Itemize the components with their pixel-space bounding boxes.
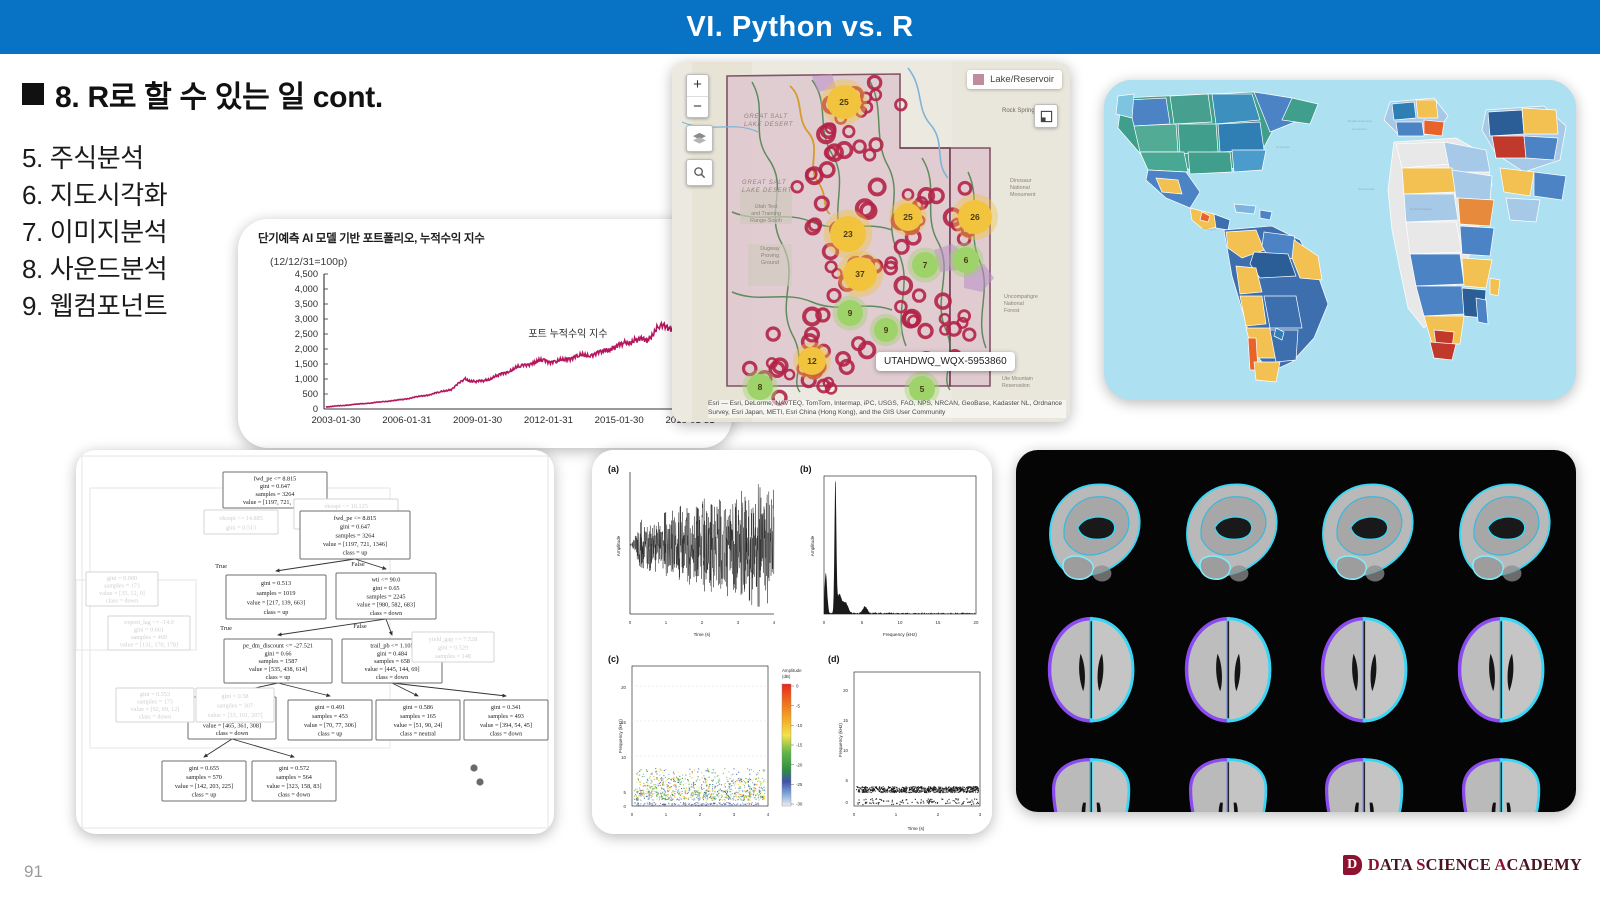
map-cluster-marker[interactable]: 9: [874, 318, 898, 342]
brain-mri-card: [1016, 450, 1576, 812]
list-item: 9. 웹컴포넌트: [22, 288, 167, 325]
svg-text:Amplitude: Amplitude: [810, 535, 815, 556]
logo-cience: CIENCE: [1426, 855, 1495, 874]
svg-text:gini = 0.66: gini = 0.66: [264, 650, 291, 657]
brand-logo: D DATA SCIENCE ACADEMY: [1343, 855, 1582, 875]
svg-text:samples = 173: samples = 173: [137, 698, 173, 705]
logo-text: DATA SCIENCE ACADEMY: [1368, 855, 1582, 875]
svg-text:gini = 0.529: gini = 0.529: [438, 644, 468, 651]
svg-text:2006-01-31: 2006-01-31: [382, 415, 431, 426]
svg-text:500: 500: [302, 389, 318, 399]
svg-text:gini = 0.000: gini = 0.000: [107, 575, 137, 582]
svg-text:(a): (a): [608, 464, 619, 474]
svg-text:gini = 0.586: gini = 0.586: [403, 704, 433, 711]
svg-text:value = [33, 101, 207]: value = [33, 101, 207]: [207, 712, 262, 719]
svg-text:value = [92, 69, 12]: value = [92, 69, 12]: [131, 706, 180, 713]
svg-text:2012-01-31: 2012-01-31: [524, 415, 573, 426]
square-bullet-icon: [22, 83, 44, 105]
svg-text:포트 누적수익 지수: 포트 누적수익 지수: [528, 328, 607, 340]
svg-text:True: True: [220, 625, 232, 632]
svg-text:value = [465, 361, 308]: value = [465, 361, 308]: [203, 723, 261, 730]
slide-heading-text: 8. R로 할 수 있는 일 cont.: [55, 72, 383, 116]
svg-text:class = down: class = down: [278, 792, 310, 799]
brain-slice-svg: [1434, 741, 1569, 812]
svg-text:1,500: 1,500: [295, 359, 318, 369]
svg-text:GREAT SALT: GREAT SALT: [742, 180, 787, 186]
logo-cademy: CADEMY: [1507, 855, 1582, 874]
svg-text:3,500: 3,500: [295, 299, 318, 309]
svg-text:value = [394, 54, 45]: value = [394, 54, 45]: [480, 722, 532, 729]
svg-text:class = down: class = down: [216, 730, 248, 737]
svg-text:samples = 564: samples = 564: [276, 774, 312, 781]
layers-button[interactable]: [686, 125, 713, 152]
svg-text:export_lag <= -14.0: export_lag <= -14.0: [124, 619, 173, 626]
logo-a: A: [1494, 855, 1506, 874]
decision-tree-card: fwd_pe <= 8.815gini = 0.647samples = 326…: [76, 450, 554, 834]
page-number: 91: [24, 862, 43, 882]
map-controls[interactable]: + −: [686, 74, 713, 186]
svg-text:class = down: class = down: [376, 674, 408, 681]
svg-text:15: 15: [936, 620, 941, 625]
brain-slice-sagittal: [1161, 458, 1296, 598]
svg-text:class = down: class = down: [370, 610, 402, 617]
tree-node: vkospi <= 14.885gini = 0.513: [204, 510, 278, 534]
list-item: 5. 주식분석: [22, 140, 167, 177]
svg-text:gini = 0.513: gini = 0.513: [261, 580, 291, 587]
map-cluster-marker[interactable]: 6: [953, 247, 979, 273]
svg-text:-15: -15: [796, 743, 803, 748]
svg-text:gini = 0.572: gini = 0.572: [279, 765, 309, 772]
brain-slice-svg: [1161, 600, 1296, 740]
search-button[interactable]: [686, 159, 713, 186]
svg-text:samples = 148: samples = 148: [435, 653, 471, 660]
svg-text:4,500: 4,500: [295, 269, 318, 279]
svg-text:gini = 0.341: gini = 0.341: [491, 704, 521, 711]
map-canvas[interactable]: GREAT SALT LAKE DESERT GREAT SALT LAKE D…: [672, 62, 1070, 422]
svg-text:samples = 1019: samples = 1019: [257, 590, 296, 597]
svg-text:class = down: class = down: [139, 713, 171, 720]
svg-text:-25: -25: [796, 782, 803, 787]
brain-slice-coronal: [1024, 741, 1159, 812]
svg-text:20: 20: [843, 688, 848, 693]
brain-slice-coronal: [1434, 741, 1569, 812]
svg-text:Galapagos: Galapagos: [1202, 227, 1217, 231]
logo-s: S: [1416, 855, 1425, 874]
list-item: 6. 지도시각화: [22, 177, 167, 214]
brain-slice-svg: [1297, 458, 1432, 598]
svg-text:Frequency (kHz): Frequency (kHz): [838, 723, 843, 757]
brain-slice-svg: [1161, 458, 1296, 598]
map-cluster-marker[interactable]: 37: [843, 257, 877, 291]
svg-text:Reservation: Reservation: [1002, 383, 1030, 389]
svg-text:St George: St George: [1276, 145, 1290, 149]
svg-text:Utah Test: Utah Test: [755, 204, 778, 210]
svg-text:Range-South: Range-South: [750, 218, 782, 224]
map-cluster-marker[interactable]: 25: [894, 203, 922, 231]
feature-tooltip: UTAHDWQ_WQX-5953860: [876, 352, 1015, 371]
logo-mark-icon: D: [1343, 855, 1362, 875]
svg-text:value = [217, 139, 663]: value = [217, 139, 663]: [247, 599, 305, 606]
tree-node: gini = 0.58samples = 307value = [33, 101…: [196, 688, 274, 722]
svg-text:samples = 307: samples = 307: [217, 703, 253, 710]
list-item: 8. 사운드분석: [22, 251, 167, 288]
svg-text:10: 10: [621, 755, 626, 760]
svg-text:samples = 1587: samples = 1587: [259, 658, 298, 665]
list-item: 7. 이미지분석: [22, 214, 167, 251]
svg-text:(c): (c): [608, 654, 619, 664]
svg-text:-5: -5: [796, 703, 800, 708]
svg-text:gini = 0.655: gini = 0.655: [189, 765, 219, 772]
svg-text:samples = 453: samples = 453: [312, 713, 348, 720]
map-cluster-marker[interactable]: 26: [958, 200, 992, 234]
svg-text:2003-01-30: 2003-01-30: [311, 415, 360, 426]
map-cluster-marker[interactable]: 7: [912, 252, 938, 278]
svg-text:-20: -20: [796, 762, 803, 767]
brain-slice-svg: [1434, 458, 1569, 598]
svg-text:value = [142, 203, 225]: value = [142, 203, 225]: [175, 783, 233, 790]
svg-text:20: 20: [621, 685, 626, 690]
svg-text:gini = 0.513: gini = 0.513: [226, 524, 256, 531]
svg-text:value = [51, 90, 24]: value = [51, 90, 24]: [394, 722, 443, 729]
svg-text:samples = 165: samples = 165: [400, 713, 436, 720]
svg-text:National: National: [1004, 301, 1024, 307]
svg-text:samples = 173: samples = 173: [104, 582, 140, 589]
svg-text:gini = 0.553: gini = 0.553: [140, 691, 170, 698]
zoom-out-button[interactable]: −: [687, 96, 708, 117]
tree-node: gini = 0.513samples = 1019value = [217, …: [226, 575, 326, 619]
map-cluster-marker[interactable]: 25: [827, 85, 861, 119]
svg-text:10: 10: [843, 748, 848, 753]
brain-slice-svg: [1434, 600, 1569, 740]
tree-node: gini = 0.341samples = 493value = [394, 5…: [464, 700, 548, 740]
brain-slice-grid: [1024, 458, 1568, 804]
svg-text:LAKE DESERT: LAKE DESERT: [742, 188, 793, 194]
svg-text:1,000: 1,000: [295, 374, 318, 384]
svg-text:GREAT SALT: GREAT SALT: [744, 113, 788, 120]
svg-text:class = up: class = up: [192, 792, 217, 799]
svg-text:fwd_pe <= 8.815: fwd_pe <= 8.815: [334, 515, 377, 522]
brain-slice-sagittal: [1434, 458, 1569, 598]
svg-text:(d): (d): [828, 654, 840, 664]
svg-text:2,000: 2,000: [295, 344, 318, 354]
svg-text:20: 20: [974, 620, 979, 625]
svg-text:Amplitude: Amplitude: [616, 535, 621, 556]
svg-text:class = down: class = down: [106, 597, 138, 604]
svg-text:2015-01-30: 2015-01-30: [595, 415, 644, 426]
svg-text:LAKE DESERT: LAKE DESERT: [744, 121, 794, 128]
svg-text:class = up: class = up: [266, 674, 291, 681]
svg-text:True: True: [215, 563, 227, 570]
svg-text:samples = 469: samples = 469: [131, 634, 167, 641]
brain-slice-svg: [1297, 741, 1432, 812]
search-icon: [693, 166, 706, 179]
svg-text:and Training: and Training: [751, 211, 781, 217]
svg-text:Santa Antão: Santa Antão: [1358, 187, 1375, 191]
svg-text:value = [70, 77, 306]: value = [70, 77, 306]: [304, 722, 356, 729]
svg-text:4,000: 4,000: [295, 284, 318, 294]
header-bar: VI. Python vs. R: [0, 0, 1600, 54]
brain-slice-svg: [1161, 741, 1296, 812]
svg-text:10: 10: [898, 620, 903, 625]
svg-text:fwd_pe <= 8.815: fwd_pe <= 8.815: [254, 475, 297, 482]
water-quality-map-card[interactable]: GREAT SALT LAKE DESERT GREAT SALT LAKE D…: [672, 62, 1070, 422]
svg-text:class = neutral: class = neutral: [400, 731, 436, 738]
brain-slice-sagittal: [1024, 458, 1159, 598]
svg-text:value = [323, 158, 83]: value = [323, 158, 83]: [266, 783, 321, 790]
svg-text:value = [131, 170, 178]: value = [131, 170, 178]: [120, 641, 178, 648]
map-cluster-marker[interactable]: 9: [837, 300, 863, 326]
brain-slice-svg: [1024, 600, 1159, 740]
svg-text:-10: -10: [796, 723, 803, 728]
svg-text:3,000: 3,000: [295, 314, 318, 324]
svg-text:gini = 0.65: gini = 0.65: [372, 585, 399, 592]
brain-slice-coronal: [1297, 741, 1432, 812]
svg-text:gini = 0.491: gini = 0.491: [315, 704, 345, 711]
svg-text:Uncompahgre: Uncompahgre: [1004, 294, 1038, 300]
svg-text:Time (s): Time (s): [908, 826, 925, 831]
map-legend: Lake/Reservoir: [967, 70, 1062, 89]
svg-text:(dB): (dB): [782, 674, 791, 679]
svg-text:False: False: [351, 561, 365, 568]
svg-text:Rock Springs: Rock Springs: [1002, 108, 1038, 114]
svg-text:Região Autónoma: Região Autónoma: [1348, 119, 1372, 123]
tree-node: gini = 0.572samples = 564value = [323, 1…: [252, 761, 336, 801]
tree-node: yield_gap <= 7.528gini = 0.529samples = …: [412, 632, 494, 662]
svg-text:value = [445, 144, 69]: value = [445, 144, 69]: [364, 666, 419, 673]
svg-text:pe_dm_discount <= -27.521: pe_dm_discount <= -27.521: [243, 642, 313, 649]
brain-slice-coronal: [1161, 741, 1296, 812]
map-attribution: Esri — Esri, DeLorme, NAVTEQ, TomTom, In…: [708, 400, 1066, 418]
svg-text:gini = 0.661: gini = 0.661: [134, 626, 164, 633]
map-cluster-marker[interactable]: 8: [747, 374, 773, 400]
tree-node: export_lag <= -14.0gini = 0.661samples =…: [108, 616, 190, 650]
tree-node: gini = 0.655samples = 570value = [142, 2…: [162, 761, 246, 801]
svg-text:Ute Mountain: Ute Mountain: [1002, 376, 1033, 382]
bullet-list: 5. 주식분석 6. 지도시각화 7. 이미지분석 8. 사운드분석 9. 웹컴…: [22, 140, 167, 325]
svg-text:0: 0: [313, 404, 318, 414]
sound-analysis-card: (a) 0 1 2 3 4 Time (s) Amplitude (b) 0 5…: [592, 450, 992, 834]
tree-node: fwd_pe <= 8.815gini = 0.647samples = 326…: [300, 511, 410, 559]
brain-slice-axial: [1024, 600, 1159, 740]
svg-text:samples = 3264: samples = 3264: [256, 491, 295, 498]
brain-slice-svg: [1024, 741, 1159, 812]
layers-icon: [692, 132, 707, 145]
svg-text:class = up: class = up: [343, 550, 368, 557]
svg-text:value = [980, 582, 683]: value = [980, 582, 683]: [357, 602, 415, 609]
zoom-in-button[interactable]: +: [687, 75, 708, 96]
world-choropleth-map-card: Região Autónoma dos Açores St George San…: [1104, 80, 1576, 400]
sound-panels-svg: (a) 0 1 2 3 4 Time (s) Amplitude (b) 0 5…: [592, 450, 992, 834]
tree-node: wti <= 90.0gini = 0.65samples = 2245valu…: [336, 573, 436, 619]
svg-text:value = [35, 12, 0]: value = [35, 12, 0]: [99, 590, 145, 597]
svg-text:yield_gap <= 7.528: yield_gap <= 7.528: [429, 636, 477, 643]
decision-tree-svg: fwd_pe <= 8.815gini = 0.647samples = 326…: [76, 450, 554, 834]
line-chart-plot: 05001,0001,5002,0002,5003,0003,5004,0004…: [238, 219, 732, 448]
svg-text:2009-01-30: 2009-01-30: [453, 415, 502, 426]
default-extent-button[interactable]: [1034, 104, 1058, 128]
svg-text:wti <= 90.0: wti <= 90.0: [372, 577, 401, 584]
svg-text:False: False: [353, 623, 367, 630]
svg-text:samples = 3264: samples = 3264: [336, 532, 375, 539]
legend-label: Lake/Reservoir: [990, 74, 1054, 85]
svg-text:2,500: 2,500: [295, 329, 318, 339]
svg-text:dos Açores: dos Açores: [1352, 127, 1367, 131]
svg-text:Dinosaur: Dinosaur: [1010, 178, 1032, 184]
map-cluster-marker[interactable]: 23: [830, 216, 866, 252]
zoom-control[interactable]: + −: [686, 74, 709, 118]
map-cluster-marker[interactable]: 12: [798, 347, 826, 375]
tree-node: gini = 0.000samples = 173value = [35, 12…: [86, 572, 158, 606]
svg-text:Forest: Forest: [1004, 308, 1020, 314]
tree-node: gini = 0.553samples = 173value = [92, 69…: [116, 688, 194, 722]
logo-d: D: [1368, 855, 1380, 874]
brain-slice-svg: [1297, 600, 1432, 740]
brain-slice-axial: [1434, 600, 1569, 740]
svg-text:class = down: class = down: [490, 731, 522, 738]
svg-text:Frequency (kHz): Frequency (kHz): [883, 632, 917, 637]
world-map-svg: Região Autónoma dos Açores St George San…: [1104, 80, 1576, 400]
svg-text:samples = 2245: samples = 2245: [367, 593, 406, 600]
svg-text:-30: -30: [796, 802, 803, 807]
svg-text:samples = 658: samples = 658: [374, 658, 410, 665]
svg-text:samples = 493: samples = 493: [488, 713, 524, 720]
tree-node: gini = 0.586samples = 165value = [51, 90…: [376, 700, 460, 740]
svg-text:15: 15: [843, 718, 848, 723]
svg-text:Ground: Ground: [761, 260, 779, 266]
page-title: VI. Python vs. R: [686, 11, 913, 44]
svg-text:class = up: class = up: [264, 609, 289, 616]
svg-text:Monument: Monument: [1010, 192, 1036, 198]
svg-text:gini = 0.647: gini = 0.647: [340, 524, 370, 531]
brain-slice-sagittal: [1297, 458, 1432, 598]
svg-text:gini = 0.647: gini = 0.647: [260, 483, 290, 490]
svg-text:samples = 570: samples = 570: [186, 774, 222, 781]
svg-text:Amplitude: Amplitude: [782, 668, 802, 673]
svg-text:Time (s): Time (s): [694, 632, 711, 637]
stock-analysis-chart-card: 단기예측 AI 모델 기반 포트폴리오, 누적수익 지수 (12/12/31=1…: [238, 219, 732, 448]
slide-heading: 8. R로 할 수 있는 일 cont.: [22, 72, 383, 116]
svg-text:Frequency (kHz): Frequency (kHz): [618, 719, 623, 753]
tree-node: gini = 0.491samples = 453value = [70, 77…: [288, 700, 372, 740]
svg-text:vkospi <= 14.885: vkospi <= 14.885: [219, 515, 263, 522]
svg-text:gini = 0.484: gini = 0.484: [377, 650, 407, 657]
svg-text:value = [1197, 721, 1346]: value = [1197, 721, 1346]: [323, 541, 387, 548]
svg-text:National: National: [1010, 185, 1030, 191]
svg-text:gini = 0.58: gini = 0.58: [221, 693, 248, 700]
tree-node: pe_dm_discount <= -27.521gini = 0.66samp…: [224, 639, 332, 683]
svg-text:vkospi <= 16.125: vkospi <= 16.125: [324, 503, 368, 510]
svg-text:Dugway: Dugway: [760, 246, 780, 252]
svg-text:value = [535, 438, 614]: value = [535, 438, 614]: [249, 666, 307, 673]
svg-text:(b): (b): [800, 464, 812, 474]
svg-text:trail_pb <= 1.105: trail_pb <= 1.105: [370, 642, 413, 649]
svg-text:class = up: class = up: [318, 731, 343, 738]
brain-slice-svg: [1024, 458, 1159, 598]
extent-icon: [1040, 110, 1053, 123]
map-cluster-marker[interactable]: 5: [909, 376, 935, 402]
svg-text:Proving: Proving: [761, 253, 779, 259]
legend-swatch-icon: [973, 74, 984, 85]
svg-text:Northern Region: Northern Region: [1410, 207, 1432, 211]
logo-ata: ATA: [1380, 855, 1416, 874]
brain-slice-axial: [1161, 600, 1296, 740]
brain-slice-axial: [1297, 600, 1432, 740]
